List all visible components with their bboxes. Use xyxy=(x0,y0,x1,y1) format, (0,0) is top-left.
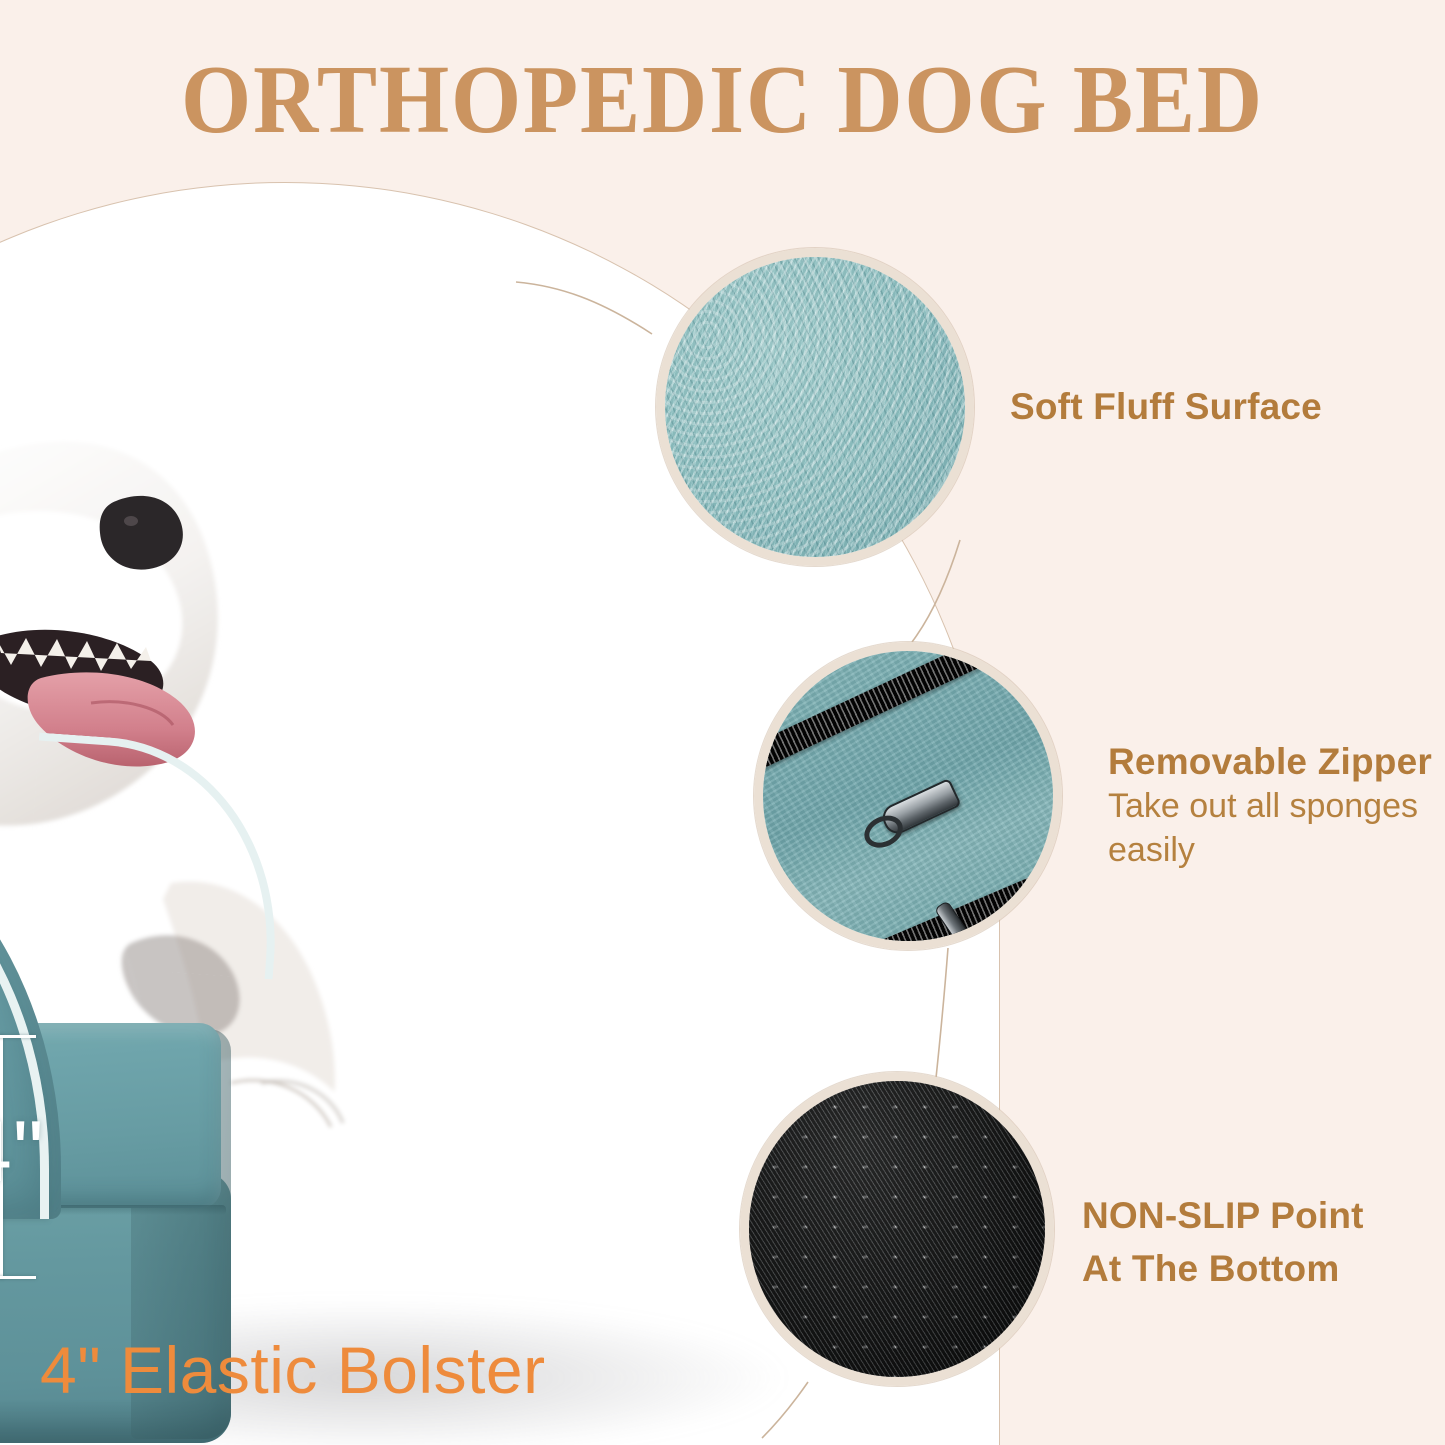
non-slip-dotted-fabric-swatch xyxy=(749,1081,1045,1377)
feature-swatch-zipper xyxy=(754,642,1062,950)
feature-swatch-fluff xyxy=(656,248,974,566)
infographic-canvas: ORTHOPEDIC DOG BED xyxy=(0,0,1445,1445)
dimension-cap-top xyxy=(0,1035,36,1038)
feature-label-nonslip: NON-SLIP Point At The Bottom xyxy=(1082,1190,1364,1295)
dimension-cap-bottom xyxy=(0,1276,36,1279)
page-title: ORTHOPEDIC DOG BED xyxy=(51,44,1395,155)
fluff-texture-swatch xyxy=(665,257,965,557)
feature-heading-zipper: Removable Zipper xyxy=(1108,740,1438,784)
zipper-closeup-swatch xyxy=(763,651,1053,941)
bolster-caption: 4" Elastic Bolster xyxy=(40,1332,546,1408)
feature-sub-zipper: Take out all sponges easily xyxy=(1108,784,1438,872)
fluff-texture-fill xyxy=(656,248,974,566)
thickness-dimension-callout: 4" xyxy=(0,1035,3,1279)
non-slip-texture-fill xyxy=(740,1072,1054,1386)
feature-heading-nonslip-line2: At The Bottom xyxy=(1082,1243,1364,1296)
feature-swatch-nonslip xyxy=(740,1072,1054,1386)
feature-label-zipper: Removable Zipper Take out all sponges ea… xyxy=(1108,740,1438,872)
feature-heading-nonslip-line1: NON-SLIP Point xyxy=(1082,1190,1364,1243)
feature-heading-fluff: Soft Fluff Surface xyxy=(1010,385,1322,429)
dimension-value-label: 4" xyxy=(0,1103,44,1202)
feature-label-fluff: Soft Fluff Surface xyxy=(1010,385,1322,429)
